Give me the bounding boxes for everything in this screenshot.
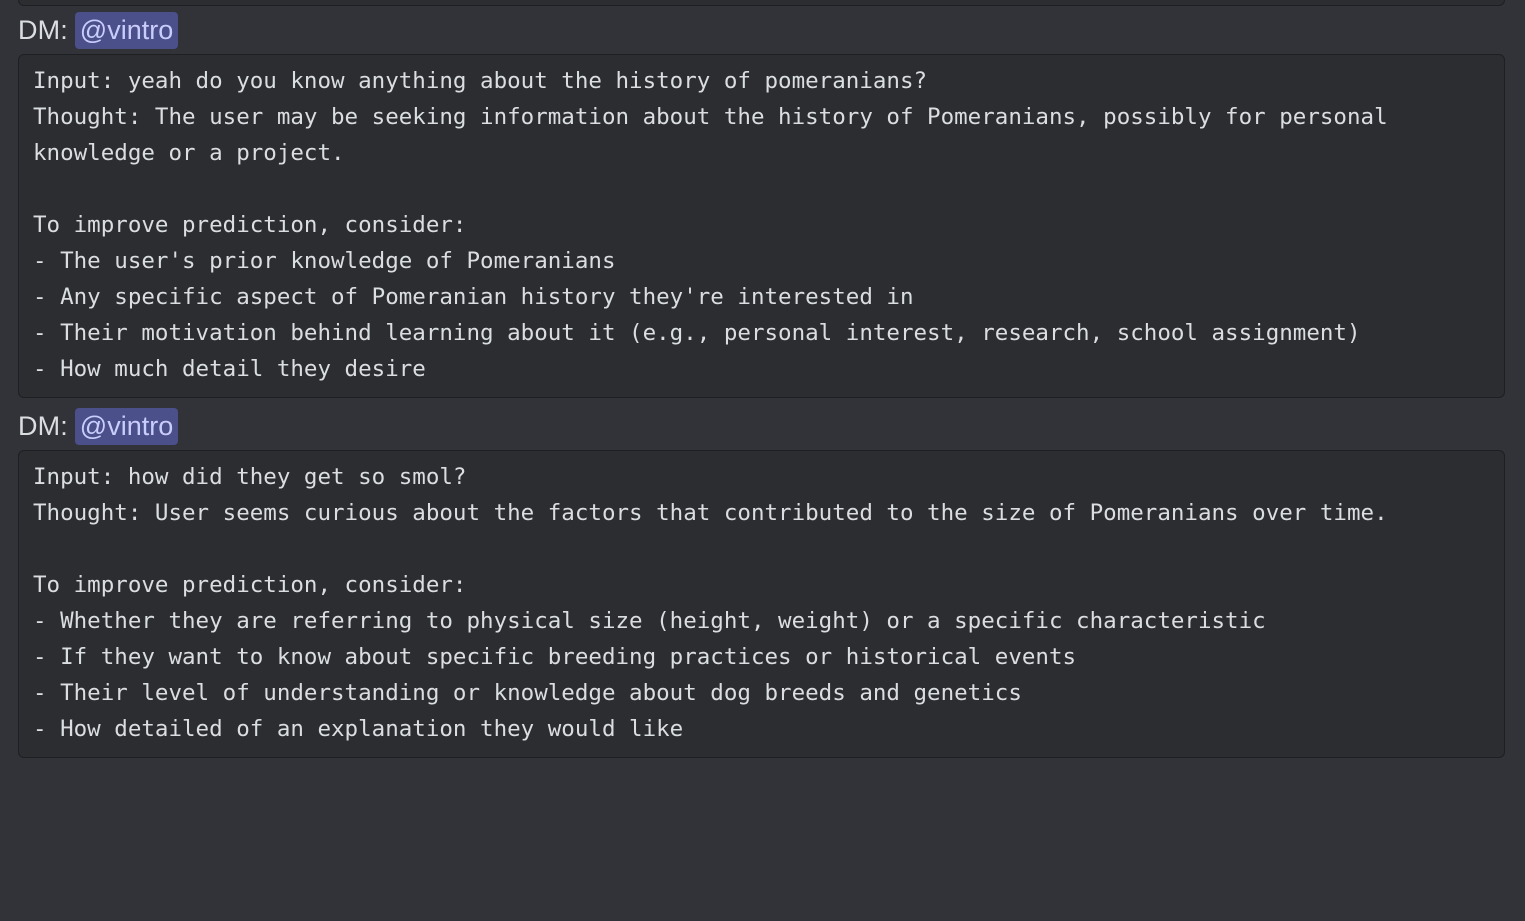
- previous-codeblock-tail: [18, 0, 1505, 6]
- chat-transcript: DM: @vintro Input: yeah do you know anyt…: [0, 0, 1525, 921]
- mention-badge-vintro[interactable]: @vintro: [75, 408, 178, 445]
- codeblock-content: Input: yeah do you know anything about t…: [33, 63, 1492, 387]
- message-feed: DM: @vintro Input: yeah do you know anyt…: [0, 8, 1525, 758]
- dm-header: DM: @vintro: [0, 8, 1525, 54]
- dm-label: DM:: [18, 410, 68, 442]
- codeblock: Input: how did they get so smol? Thought…: [18, 450, 1505, 758]
- dm-header: DM: @vintro: [0, 404, 1525, 450]
- message-item: DM: @vintro Input: yeah do you know anyt…: [0, 8, 1525, 398]
- codeblock-content: Input: how did they get so smol? Thought…: [33, 459, 1492, 747]
- mention-badge-vintro[interactable]: @vintro: [75, 12, 178, 49]
- codeblock: Input: yeah do you know anything about t…: [18, 54, 1505, 398]
- dm-label: DM:: [18, 14, 68, 46]
- message-item: DM: @vintro Input: how did they get so s…: [0, 404, 1525, 758]
